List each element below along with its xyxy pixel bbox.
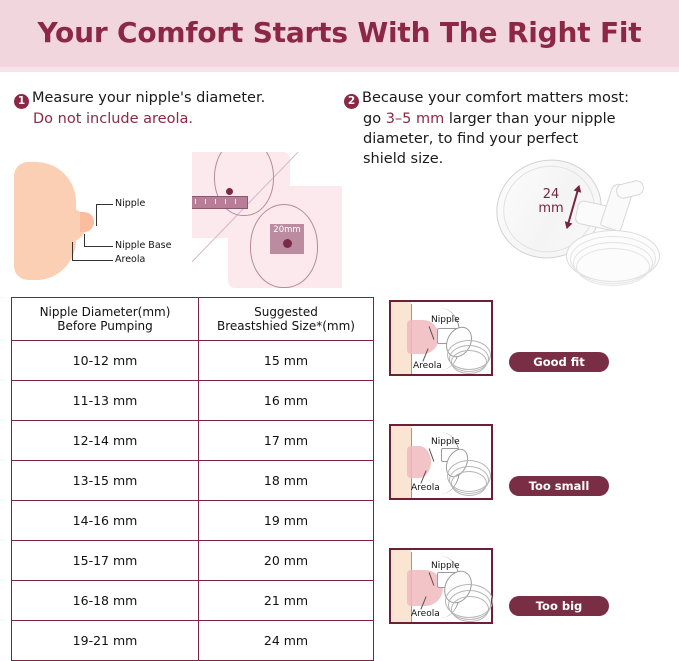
shield-size-table: Nipple Diameter(mm) Before Pumping Sugge…	[11, 297, 374, 661]
table-row: 13-15 mm 18 mm	[12, 461, 374, 501]
label-areola: Areola	[413, 361, 442, 371]
measuring-illustration: 20mm	[192, 152, 342, 288]
fit-badge-too-small: Too small	[509, 476, 609, 496]
step-2-line-1: 2Because your comfort matters most:	[344, 88, 674, 109]
label-nipple: Nipple	[431, 561, 460, 571]
fit-badge-too-big: Too big	[509, 596, 609, 616]
table-row: 11-13 mm 16 mm	[12, 381, 374, 421]
cell-diameter: 15-17 mm	[12, 541, 199, 581]
cell-diameter: 19-21 mm	[12, 621, 199, 661]
shield-base-ring	[451, 471, 487, 496]
nipple-base-leader-line-h	[84, 246, 113, 247]
label-areola: Areola	[411, 609, 440, 619]
shield-valve-head	[615, 179, 646, 200]
banner-bottom-strip	[0, 67, 679, 72]
step-1-line-2: Do not include areola.	[14, 109, 344, 129]
illustration-row: Nipple Nipple Base Areola 20mm	[0, 150, 679, 290]
step-2-number-icon: 2	[344, 94, 359, 109]
step-2-range-accent: 3–5 mm	[386, 111, 445, 127]
shield-size-unit: mm	[538, 201, 563, 216]
areola-leader-line	[72, 242, 73, 260]
nipple-shape	[80, 212, 94, 232]
step-2-line-3: diameter, to find your perfect	[344, 129, 674, 149]
fit-panel-too-big: Nipple Areola	[389, 548, 493, 624]
table-row: 19-21 mm 24 mm	[12, 621, 374, 661]
table-header-size-line-1: Suggested	[254, 305, 318, 319]
step-1-text: Measure your nipple's diameter.	[32, 90, 265, 106]
table-header-diameter-line-2: Before Pumping	[12, 319, 198, 333]
page-title: Your Comfort Starts With The Right Fit	[0, 16, 679, 49]
shield-base-ring	[451, 350, 487, 374]
ruler-tick	[225, 199, 226, 204]
nipple-leader-line	[96, 204, 97, 226]
table-row: 15-17 mm 20 mm	[12, 541, 374, 581]
cell-size: 24 mm	[199, 621, 374, 661]
ruler-tick	[205, 199, 206, 204]
step-1-number-icon: 1	[14, 94, 29, 109]
table-row: 16-18 mm 21 mm	[12, 581, 374, 621]
shield-base-ring	[451, 596, 489, 622]
fit-badge-good: Good fit	[509, 352, 609, 372]
shield-size-label: 24 mm	[534, 188, 568, 216]
breast-anatomy-illustration: Nipple Nipple Base Areola	[14, 158, 194, 288]
cell-diameter: 11-13 mm	[12, 381, 199, 421]
areola-leader-line-h	[72, 260, 113, 261]
step-2-text: Because your comfort matters most:	[362, 90, 629, 106]
shield-base-ring	[576, 248, 650, 286]
measure-nipple-dot-bottom	[283, 239, 292, 248]
fit-panel-good: Nipple Areola	[389, 300, 493, 376]
label-nipple: Nipple	[431, 315, 460, 325]
label-areola: Areola	[411, 483, 440, 493]
step-2-line-2-pre: go	[363, 111, 386, 127]
cell-diameter: 12-14 mm	[12, 421, 199, 461]
label-areola: Areola	[115, 254, 145, 265]
label-nipple-base: Nipple Base	[115, 240, 171, 251]
label-nipple: Nipple	[431, 437, 460, 447]
table-header-size: Suggested Breastshied Size*(mm)	[199, 298, 374, 341]
table-header-size-line-2: Breastshied Size*(mm)	[199, 319, 373, 333]
cell-size: 17 mm	[199, 421, 374, 461]
table-row: 14-16 mm 19 mm	[12, 501, 374, 541]
nipple-base-leader-line	[84, 234, 85, 246]
cell-size: 15 mm	[199, 341, 374, 381]
ruler-tick	[215, 199, 216, 204]
cell-diameter: 10-12 mm	[12, 341, 199, 381]
table-row: 12-14 mm 17 mm	[12, 421, 374, 461]
shield-size-number: 24	[543, 187, 560, 202]
cell-size: 16 mm	[199, 381, 374, 421]
cell-diameter: 13-15 mm	[12, 461, 199, 501]
nipple-leader-line-h	[96, 204, 113, 205]
cell-size: 19 mm	[199, 501, 374, 541]
table-header-row: Nipple Diameter(mm) Before Pumping Sugge…	[12, 298, 374, 341]
measure-nipple-dot-top	[226, 188, 233, 195]
label-nipple: Nipple	[115, 198, 145, 209]
cell-diameter: 14-16 mm	[12, 501, 199, 541]
fit-panel-too-small: Nipple Areola	[389, 424, 493, 500]
breast-body-shape	[14, 162, 76, 280]
measurement-swatch: 20mm	[270, 224, 304, 254]
step-1-line-1: 1Measure your nipple's diameter.	[14, 88, 344, 109]
step-2-line-2: go 3–5 mm larger than your nipple	[344, 109, 674, 129]
breast-shield-illustration: 24 mm	[490, 160, 675, 292]
ruler-tick	[195, 199, 196, 204]
table-header-diameter: Nipple Diameter(mm) Before Pumping	[12, 298, 199, 341]
table-row: 10-12 mm 15 mm	[12, 341, 374, 381]
ruler-icon	[192, 196, 248, 209]
cell-size: 18 mm	[199, 461, 374, 501]
cell-diameter: 16-18 mm	[12, 581, 199, 621]
table-body: 10-12 mm 15 mm 11-13 mm 16 mm 12-14 mm 1…	[12, 341, 374, 661]
ruler-tick	[235, 199, 236, 204]
step-1-instruction: 1Measure your nipple's diameter. Do not …	[14, 88, 344, 129]
header-banner: Your Comfort Starts With The Right Fit	[0, 0, 679, 72]
table-header-diameter-line-1: Nipple Diameter(mm)	[40, 305, 171, 319]
step-2-line-2-post: larger than your nipple	[444, 111, 615, 127]
swatch-size-label: 20mm	[270, 225, 304, 235]
cell-size: 21 mm	[199, 581, 374, 621]
cell-size: 20 mm	[199, 541, 374, 581]
